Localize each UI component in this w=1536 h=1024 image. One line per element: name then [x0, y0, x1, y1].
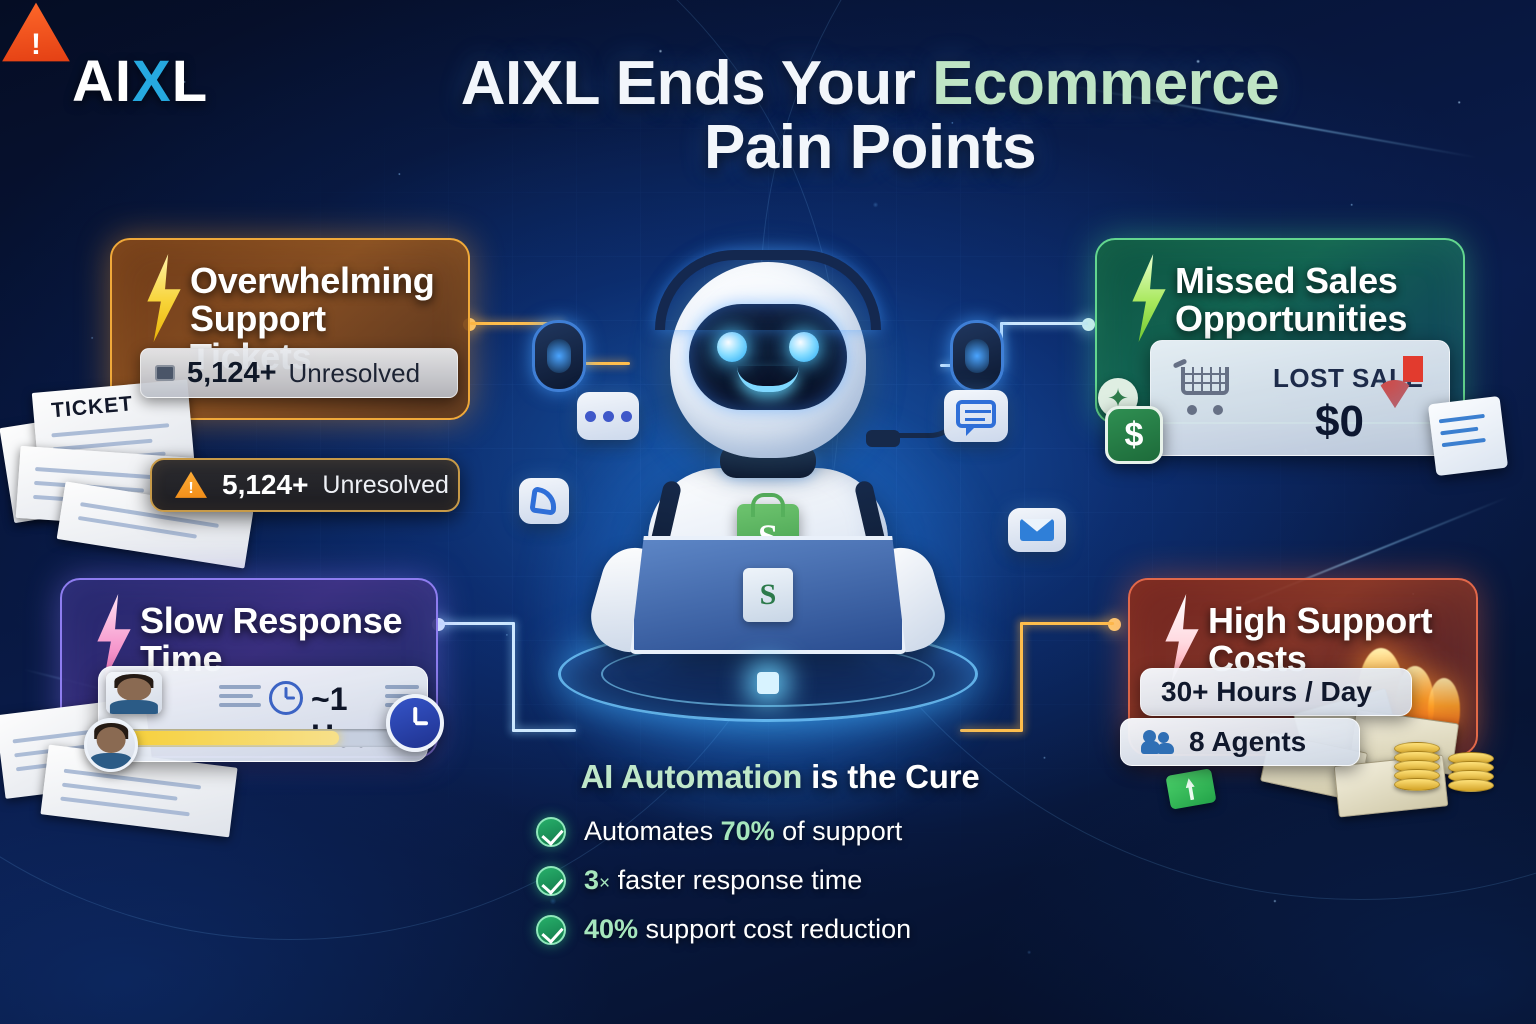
list-item: 40% support cost reduction: [536, 914, 1060, 945]
benefit-text: 40% support cost reduction: [584, 914, 911, 945]
list-item: 3× faster response time: [536, 865, 1060, 896]
logo-x-accent: X: [132, 49, 172, 114]
chip-number: 5,124+: [187, 357, 277, 390]
ticket-icon: [155, 365, 175, 381]
warning-triangle-icon: !: [0, 0, 72, 66]
clock-icon: [269, 681, 303, 715]
lightning-bolt-icon: [138, 254, 190, 342]
check-circle-icon: [536, 866, 566, 896]
check-circle-icon: [536, 915, 566, 945]
robot-smile: [737, 366, 799, 392]
cure-section: AI Automation is the Cure Automates 70% …: [500, 758, 1060, 963]
note-card-icon: [1428, 396, 1508, 476]
people-icon: [1141, 730, 1175, 754]
chat-bubble-icon: [944, 390, 1008, 442]
phone-icon: [519, 478, 569, 524]
badge-label: Unresolved: [322, 471, 448, 500]
chip-label: Unresolved: [289, 358, 421, 389]
email-icon: [1008, 508, 1066, 552]
money-tag-icon: [1165, 768, 1216, 809]
avatar: [106, 672, 162, 714]
podium-core-light: [757, 672, 779, 694]
unresolved-tickets-badge[interactable]: ! 5,124+ Unresolved: [150, 458, 460, 512]
list-item: Automates 70% of support: [536, 816, 1060, 847]
typing-dots-icon: [577, 392, 639, 440]
avatar: [84, 718, 138, 772]
paper-label: TICKET: [50, 392, 134, 423]
brand-logo[interactable]: AIXL: [72, 48, 208, 115]
robot-eye: [789, 332, 819, 362]
support-hours-value: 30+ Hours / Day: [1161, 676, 1372, 708]
card-title: High Support Costs: [1208, 602, 1450, 678]
cure-title-white: is the Cure: [802, 758, 979, 795]
shopping-cart-icon: [1173, 367, 1235, 415]
benefit-text: 3× faster response time: [584, 865, 862, 896]
title-line-2: Pain Points: [395, 116, 1345, 180]
lightning-bolt-icon: [1123, 254, 1175, 342]
title-plain-text: AIXL Ends Your: [461, 49, 932, 118]
headset-earcup-icon: [950, 320, 1004, 392]
page-title: AIXL Ends Your Ecommerce Pain Points: [395, 52, 1345, 180]
logo-prefix: AI: [72, 49, 132, 114]
check-circle-icon: [536, 817, 566, 847]
badge-number: 5,124+: [222, 469, 308, 501]
benefit-text: Automates 70% of support: [584, 816, 902, 847]
title-line-1: AIXL Ends Your Ecommerce: [395, 52, 1345, 116]
warning-triangle-icon: !: [174, 470, 208, 500]
logo-suffix: L: [172, 49, 208, 114]
headset-band-icon: [655, 250, 881, 330]
microphone-icon: [866, 430, 900, 447]
clock-icon: [386, 694, 444, 752]
headset-earcup-icon: [532, 320, 586, 392]
cure-title: AI Automation is the Cure: [500, 758, 1060, 796]
lost-sale-value: $0: [1315, 397, 1364, 447]
response-progress-bar: [121, 729, 409, 747]
unresolved-tickets-chip[interactable]: 5,124+ Unresolved: [140, 348, 458, 398]
card-title: Missed Sales Opportunities: [1175, 262, 1437, 338]
title-highlight-text: Ecommerce: [932, 49, 1279, 118]
dollar-badge-icon: $: [1105, 406, 1163, 464]
cure-benefit-list: Automates 70% of support 3× faster respo…: [500, 816, 1060, 945]
infographic-canvas: AIXL AIXL Ends Your Ecommerce Pain Point…: [0, 0, 1536, 1024]
arrow-down-icon: [1395, 356, 1431, 408]
cure-title-green: AI Automation: [581, 758, 803, 795]
ai-robot-illustration: S S: [536, 248, 1000, 718]
support-hours-badge[interactable]: 30+ Hours / Day: [1140, 668, 1412, 716]
laptop: S: [630, 536, 906, 654]
agents-count-value: 8 Agents: [1189, 726, 1306, 758]
robot-eye: [717, 332, 747, 362]
shopify-logo-icon: S: [743, 568, 793, 622]
agents-count-badge[interactable]: 8 Agents: [1120, 718, 1360, 766]
